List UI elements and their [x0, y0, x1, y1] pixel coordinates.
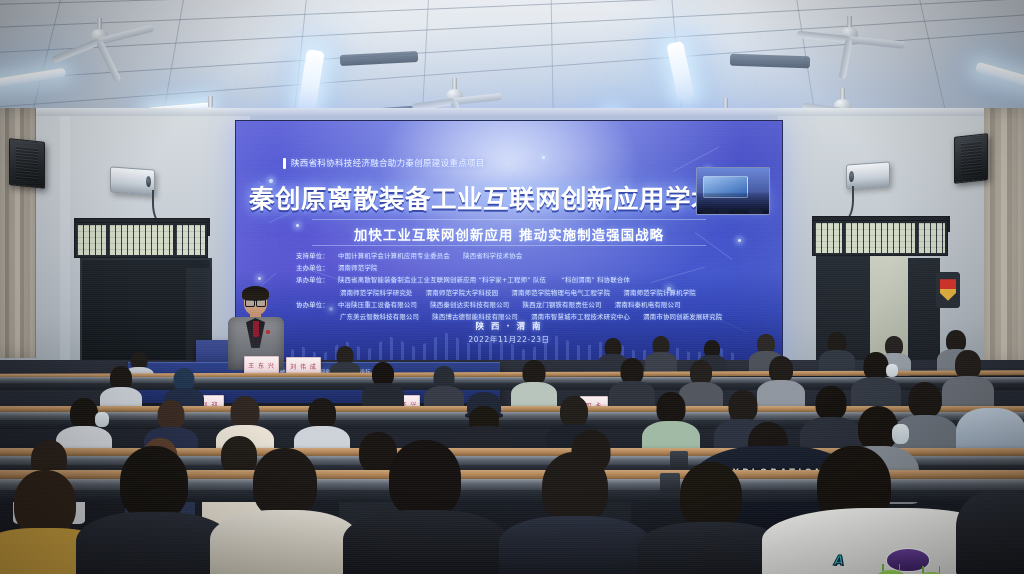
audience-member [104, 366, 138, 410]
glasses-icon [245, 299, 266, 305]
right-transom-window [812, 220, 948, 256]
audience-member [614, 358, 650, 408]
screen-top-banner-text: 陕西省科协科技经济融合助力秦创原建设重点项目 [291, 157, 485, 169]
screen-subtitle: 加快工业互联网创新应用 推动实施制造强国战略 [354, 224, 664, 244]
org-row: 支持单位：中国计算机学会计算机应用专业委员会 陕西省科学技术协会 [296, 251, 736, 260]
org-row: 承办单位：陕西省离散智能装备制造业工业互联网创新应用 “科学家+工程师” 队伍 … [296, 275, 736, 284]
audience-member [428, 366, 460, 410]
audience-member [366, 362, 400, 408]
hoodie-letter: A [834, 554, 844, 569]
left-grid-window [74, 222, 208, 258]
air-conditioner-left [110, 166, 155, 195]
wall-pilaster [60, 116, 70, 366]
org-row: 主办单位：渭南师范学院 [296, 263, 736, 272]
audience-member [762, 356, 800, 408]
title-divider [312, 219, 705, 220]
wall-beam [0, 108, 1024, 116]
face-mask [892, 424, 909, 444]
org-row: 渭南师范学院科学研究处 渭南师范学院大学科技园 渭南师范学院物理与电气工程学院 … [296, 288, 736, 297]
screen-top-banner: 陕西省科协科技经济融合助力秦创原建设重点项目 [283, 157, 485, 169]
audience-member [92, 446, 216, 574]
wall-speaker-left [9, 138, 45, 189]
subtitle-divider [312, 245, 705, 246]
wall-emblem [936, 272, 960, 308]
wall-speaker-right [954, 133, 988, 184]
banner-bar [283, 158, 286, 169]
lecture-hall-photo: 陕西省科协科技经济融合助力秦创原建设重点项目 秦创原离散装备工业互联网创新应用学… [0, 0, 1024, 574]
screen-inset-photo [696, 167, 770, 215]
screen-place: 陕 西 · 渭 南 [475, 320, 542, 332]
audience-member [360, 440, 490, 574]
audience-member [226, 448, 344, 574]
organization-list: 支持单位：中国计算机学会计算机应用专业委员会 陕西省科学技术协会 主办单位：渭南… [296, 251, 736, 324]
audience-member [822, 332, 852, 372]
audience-member [856, 352, 896, 408]
audience-member [514, 452, 636, 574]
audience-member [516, 360, 552, 408]
projection-screen: 陕西省科协科技经济融合助力秦创原建设重点项目 秦创原离散装备工业互联网创新应用学… [235, 120, 783, 374]
screen-main-title: 秦创原离散装备工业互联网创新应用学术论坛 [249, 179, 769, 216]
org-row: 协办单位：中冶陕压重工设备有限公司 陕西秦创达实科技有限公司 陕西龙门钢铁有限责… [296, 300, 736, 309]
audience-member [652, 462, 770, 574]
audience-member [966, 470, 1024, 574]
window-curtain-right [984, 108, 1024, 366]
screen-date: 2022年11月22-23日 [468, 334, 549, 345]
audience-member [648, 336, 674, 372]
